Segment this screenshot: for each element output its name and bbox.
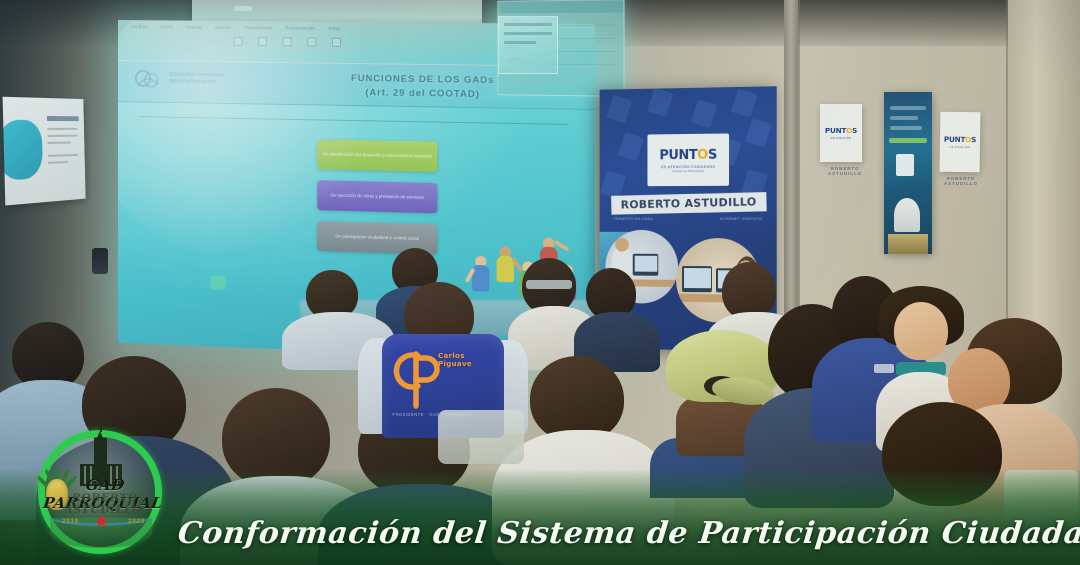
wp1-tail: S <box>852 126 857 135</box>
puntos-brand: PUNT <box>659 147 697 162</box>
poster-line-2 <box>47 135 77 137</box>
wall-poster-1-sub: DE ATENCIÓN <box>831 137 852 140</box>
plastic-chair-back <box>438 410 524 464</box>
wall-poster-2-wordmark: PUNTOS <box>944 135 976 144</box>
raised-smartphone-icon <box>92 248 108 274</box>
wp2-tail: S <box>971 135 976 144</box>
wp1-brand: PUNT <box>825 126 846 135</box>
wall-poster-1-name: ROBERTO ASTUDILLO <box>818 166 872 176</box>
poster-title-bar <box>47 116 79 121</box>
projected-dialog-line-2 <box>504 32 552 35</box>
logo-year-left: 2019 <box>62 518 79 525</box>
puntos-accent-o: O <box>697 147 708 162</box>
tall-banner-card <box>896 154 914 176</box>
projected-dropdown-titlebar <box>498 0 623 13</box>
banner-name-text: ROBERTO ASTUDILLO <box>621 195 757 211</box>
gad-parroquial-logo: GAD PARROQUIAL ROBERTO ASTUDILLO Por un … <box>24 422 184 557</box>
wp2-brand: PUNT <box>944 135 965 144</box>
tall-banner-footer <box>888 234 928 254</box>
banner-name-plate: ROBERTO ASTUDILLO <box>611 192 767 215</box>
wall-poster-2-sub: DE ATENCIÓN <box>950 146 971 149</box>
wall-poster-2-name: ROBERTO ASTUDILLO <box>938 176 984 186</box>
poster-line-3 <box>48 142 71 144</box>
panel-person-right <box>578 268 654 362</box>
poster-line-4 <box>48 154 78 157</box>
wall-poster-puntos-2: PUNTOS DE ATENCIÓN <box>940 112 981 173</box>
projected-dialog-line-1 <box>504 23 552 26</box>
tall-wall-banner <box>884 92 932 254</box>
banner-taglines: TRÁMITES EN LÍNEA INTERNET GRATUITO <box>613 217 762 221</box>
poster-line-1 <box>47 128 77 130</box>
puntos-subtitle-2: Gobierno Parroquial <box>672 168 703 172</box>
wall-poster-puntos-1: PUNTOS DE ATENCIÓN <box>820 104 862 162</box>
wall-poster-1-wordmark: PUNTOS <box>825 126 857 135</box>
tall-banner-accent <box>889 138 927 143</box>
banner-logo-card: PUNTOS DE ATENCIÓN CIUDADANA Gobierno Pa… <box>647 133 729 186</box>
projected-dialog-window <box>498 16 558 74</box>
tall-banner-figure <box>894 198 920 232</box>
slide-status-chip <box>210 275 226 289</box>
photo-caption: Conformación del Sistema de Participació… <box>176 516 1060 551</box>
banner-tagline-right: INTERNET GRATUITO <box>720 217 763 221</box>
ac-indicator <box>234 6 252 11</box>
logo-tagline: Por un Futuro Mejor <box>50 502 162 509</box>
banner-tagline-left: TRÁMITES EN LÍNEA <box>613 217 653 221</box>
projected-dialog-line-3 <box>504 41 536 44</box>
left-wall-poster <box>3 97 86 206</box>
poster-line-5 <box>48 161 68 164</box>
meeting-photograph: Archivo Inicio Insertar Diseño Transicio… <box>0 0 1080 565</box>
cp-monogram-icon <box>388 346 442 410</box>
head-silhouette-icon <box>3 120 43 181</box>
logo-year-right: 2023 <box>128 518 145 525</box>
puntos-tail: S <box>708 147 717 162</box>
puntos-wordmark: PUNTOS <box>659 147 717 163</box>
vest-name-text: Carlos Piguave <box>438 352 500 368</box>
